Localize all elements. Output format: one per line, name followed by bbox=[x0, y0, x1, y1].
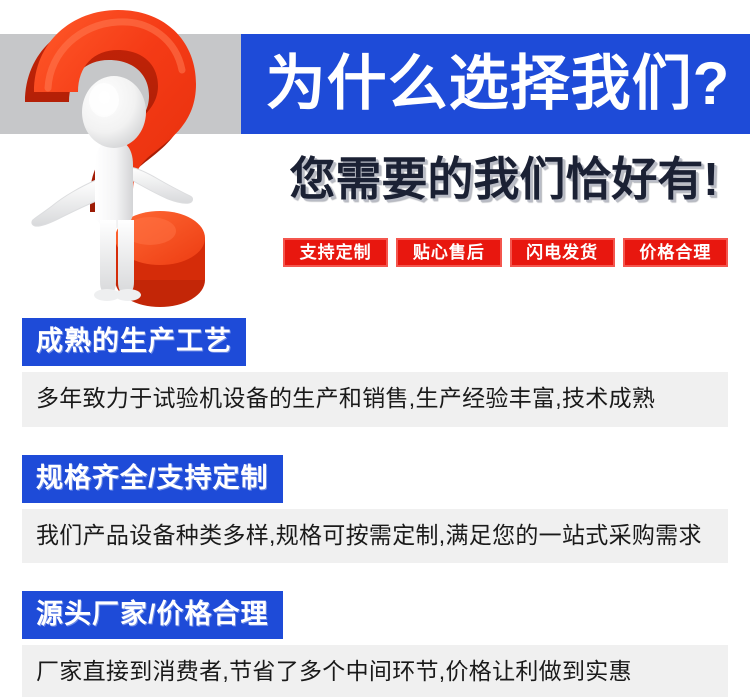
hero-section: 为什么选择我们? 您需要的我们恰好有! 支持定制 贴心售后 闪电发货 价格合理 bbox=[0, 0, 750, 310]
feature-heading: 源头厂家/价格合理 bbox=[22, 591, 283, 639]
hero-subtitle: 您需要的我们恰好有! bbox=[265, 148, 743, 210]
feature-description: 我们产品设备种类多样,规格可按需定制,满足您的一站式采购需求 bbox=[22, 509, 728, 564]
feature-heading: 成熟的生产工艺 bbox=[22, 318, 246, 366]
status-badge: 贴心售后 bbox=[396, 238, 501, 267]
feature-item: 源头厂家/价格合理 厂家直接到消费者,节省了多个中间环节,价格让利做到实惠 bbox=[0, 591, 750, 697]
status-badge: 闪电发货 bbox=[510, 238, 615, 267]
status-badge: 价格合理 bbox=[623, 238, 728, 267]
feature-heading: 规格齐全/支持定制 bbox=[22, 455, 283, 503]
status-badge: 支持定制 bbox=[283, 238, 388, 267]
feature-description: 多年致力于试验机设备的生产和销售,生产经验丰富,技术成熟 bbox=[22, 372, 728, 427]
feature-item: 成熟的生产工艺 多年致力于试验机设备的生产和销售,生产经验丰富,技术成熟 bbox=[0, 318, 750, 427]
feature-item: 规格齐全/支持定制 我们产品设备种类多样,规格可按需定制,满足您的一站式采购需求 bbox=[0, 455, 750, 564]
feature-list: 成熟的生产工艺 多年致力于试验机设备的生产和销售,生产经验丰富,技术成熟 规格齐… bbox=[0, 318, 750, 697]
page-title: 为什么选择我们? bbox=[258, 40, 738, 128]
badge-row: 支持定制 贴心售后 闪电发货 价格合理 bbox=[283, 238, 728, 267]
hero-artwork bbox=[0, 0, 250, 310]
feature-description: 厂家直接到消费者,节省了多个中间环节,价格让利做到实惠 bbox=[22, 645, 728, 697]
promo-banner: 为什么选择我们? 您需要的我们恰好有! 支持定制 贴心售后 闪电发货 价格合理 … bbox=[0, 0, 750, 697]
